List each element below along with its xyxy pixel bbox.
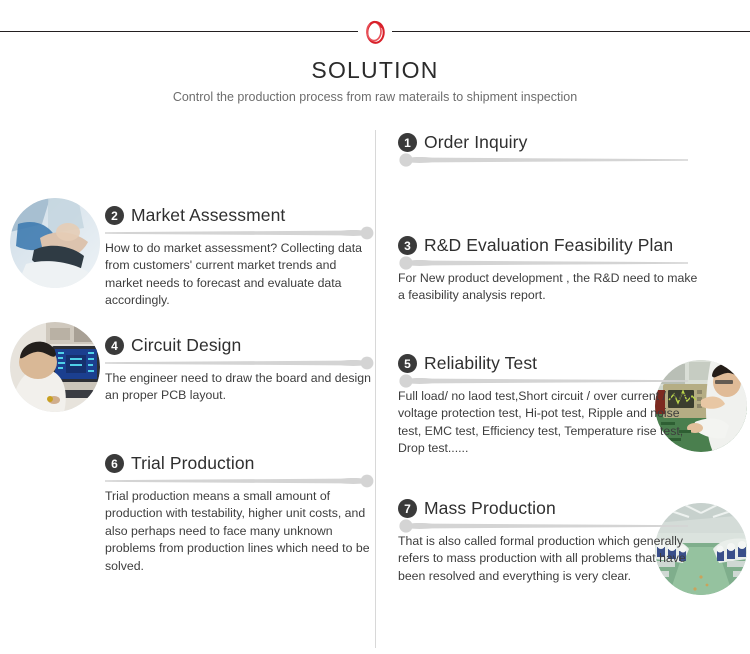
step-3-title-row: 3 R&D Evaluation Feasibility Plan: [398, 235, 698, 256]
page-header: SOLUTION Control the production process …: [0, 0, 750, 120]
step-1-connector-bar: [398, 153, 698, 167]
step-7-body: That is also called formal production wh…: [398, 533, 698, 585]
solution-flow-content: 2 Market Assessment How to do market ass…: [0, 120, 750, 654]
step-1-title-row: 1 Order Inquiry: [398, 132, 698, 153]
step-5-title-row: 5 Reliability Test: [398, 353, 698, 374]
step-2-title-row: 2 Market Assessment: [105, 205, 375, 226]
step-5-title: Reliability Test: [424, 353, 537, 374]
page-subtitle: Control the production process from raw …: [0, 90, 750, 104]
step-4-photo: [10, 322, 100, 412]
step-2-title: Market Assessment: [131, 205, 285, 226]
step-item-1[interactable]: 1 Order Inquiry: [398, 132, 698, 167]
step-6-number-badge: 6: [105, 454, 124, 473]
step-3-title: R&D Evaluation Feasibility Plan: [424, 235, 673, 256]
step-1-title: Order Inquiry: [424, 132, 527, 153]
step-7-title-row: 7 Mass Production: [398, 498, 698, 519]
step-item-6[interactable]: 6 Trial Production Trial production mean…: [105, 453, 375, 575]
step-4-connector-bar: [105, 356, 375, 370]
step-item-4[interactable]: 4 Circuit Design The engineer need to dr…: [105, 335, 375, 405]
step-item-5[interactable]: 5 Reliability Test Full load/ no laod te…: [398, 353, 698, 458]
step-7-connector-bar: [398, 519, 698, 533]
step-2-connector-bar: [105, 226, 375, 240]
column-divider: [375, 130, 376, 648]
step-7-number-badge: 7: [398, 499, 417, 518]
step-item-7[interactable]: 7 Mass Production That is also called fo…: [398, 498, 698, 585]
step-3-body: For New product development , the R&D ne…: [398, 270, 698, 305]
step-3-connector-bar: [398, 256, 698, 270]
step-item-2[interactable]: 2 Market Assessment How to do market ass…: [105, 205, 375, 310]
step-4-number-badge: 4: [105, 336, 124, 355]
step-5-number-badge: 5: [398, 354, 417, 373]
step-6-connector-bar: [105, 474, 375, 488]
step-4-title-row: 4 Circuit Design: [105, 335, 375, 356]
step-4-title: Circuit Design: [131, 335, 241, 356]
step-1-number-badge: 1: [398, 133, 417, 152]
step-2-photo: [10, 198, 100, 288]
step-5-body: Full load/ no laod test,Short circuit / …: [398, 388, 698, 458]
step-7-title: Mass Production: [424, 498, 556, 519]
step-6-title-row: 6 Trial Production: [105, 453, 375, 474]
page-title: SOLUTION: [0, 57, 750, 84]
step-6-body: Trial production means a small amount of…: [105, 488, 375, 575]
step-2-body: How to do market assessment? Collecting …: [105, 240, 375, 310]
step-4-body: The engineer need to draw the board and …: [105, 370, 375, 405]
step-6-title: Trial Production: [131, 453, 255, 474]
step-3-number-badge: 3: [398, 236, 417, 255]
brand-spiral-logo-icon: [358, 17, 392, 47]
step-item-3[interactable]: 3 R&D Evaluation Feasibility Plan For Ne…: [398, 235, 698, 305]
step-5-connector-bar: [398, 374, 698, 388]
step-2-number-badge: 2: [105, 206, 124, 225]
